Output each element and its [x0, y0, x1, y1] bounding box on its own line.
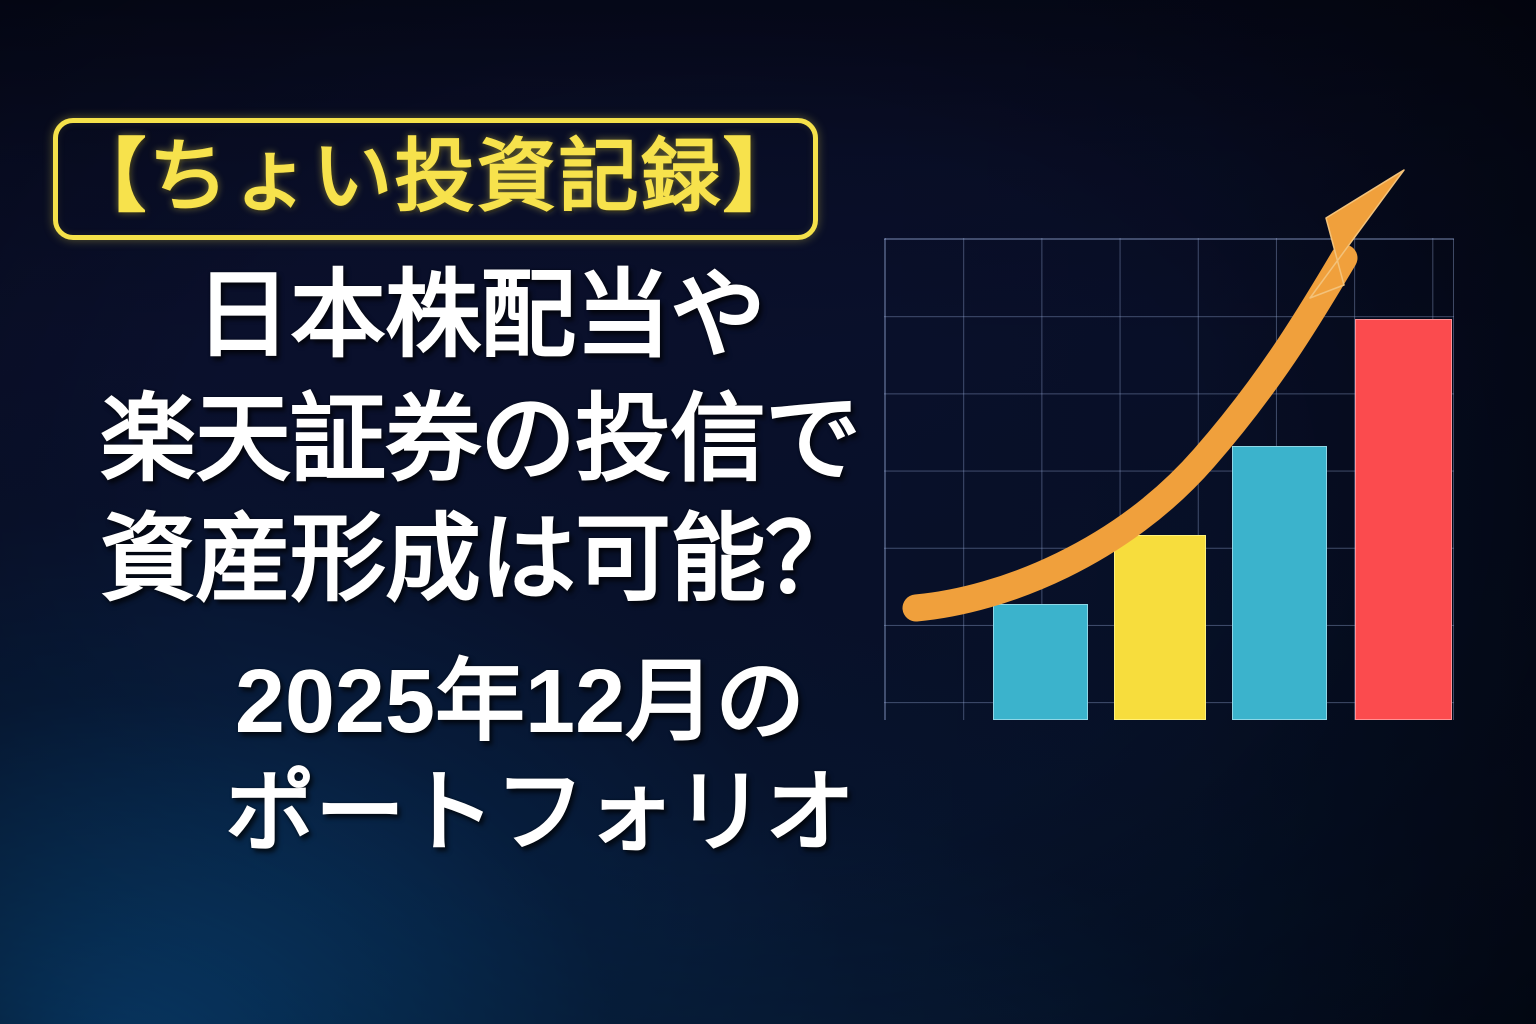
growth-arrow-head — [1310, 170, 1404, 298]
headline-line-3: 資産形成は可能？ — [0, 512, 960, 608]
category-badge: 【ちょい投資記録】 — [53, 118, 818, 240]
category-badge-label: 【ちょい投資記録】 — [67, 137, 805, 217]
headline-line-4: 2025年12月の — [40, 657, 1000, 747]
headline-line-5: ポートフォリオ — [60, 768, 1020, 858]
text-column: 【ちょい投資記録】 日本株配当や 楽天証券の投信で 資産形成は可能？ 2025年… — [0, 0, 960, 1024]
growth-arrow-shaft — [916, 258, 1344, 608]
growth-arrow-icon — [874, 148, 1474, 728]
bar-chart-illustration — [884, 238, 1454, 720]
thumbnail-canvas: 【ちょい投資記録】 日本株配当や 楽天証券の投信で 資産形成は可能？ 2025年… — [0, 0, 1536, 1024]
headline-line-2: 楽天証券の投信で — [0, 392, 960, 488]
headline-line-1: 日本株配当や — [0, 268, 960, 364]
